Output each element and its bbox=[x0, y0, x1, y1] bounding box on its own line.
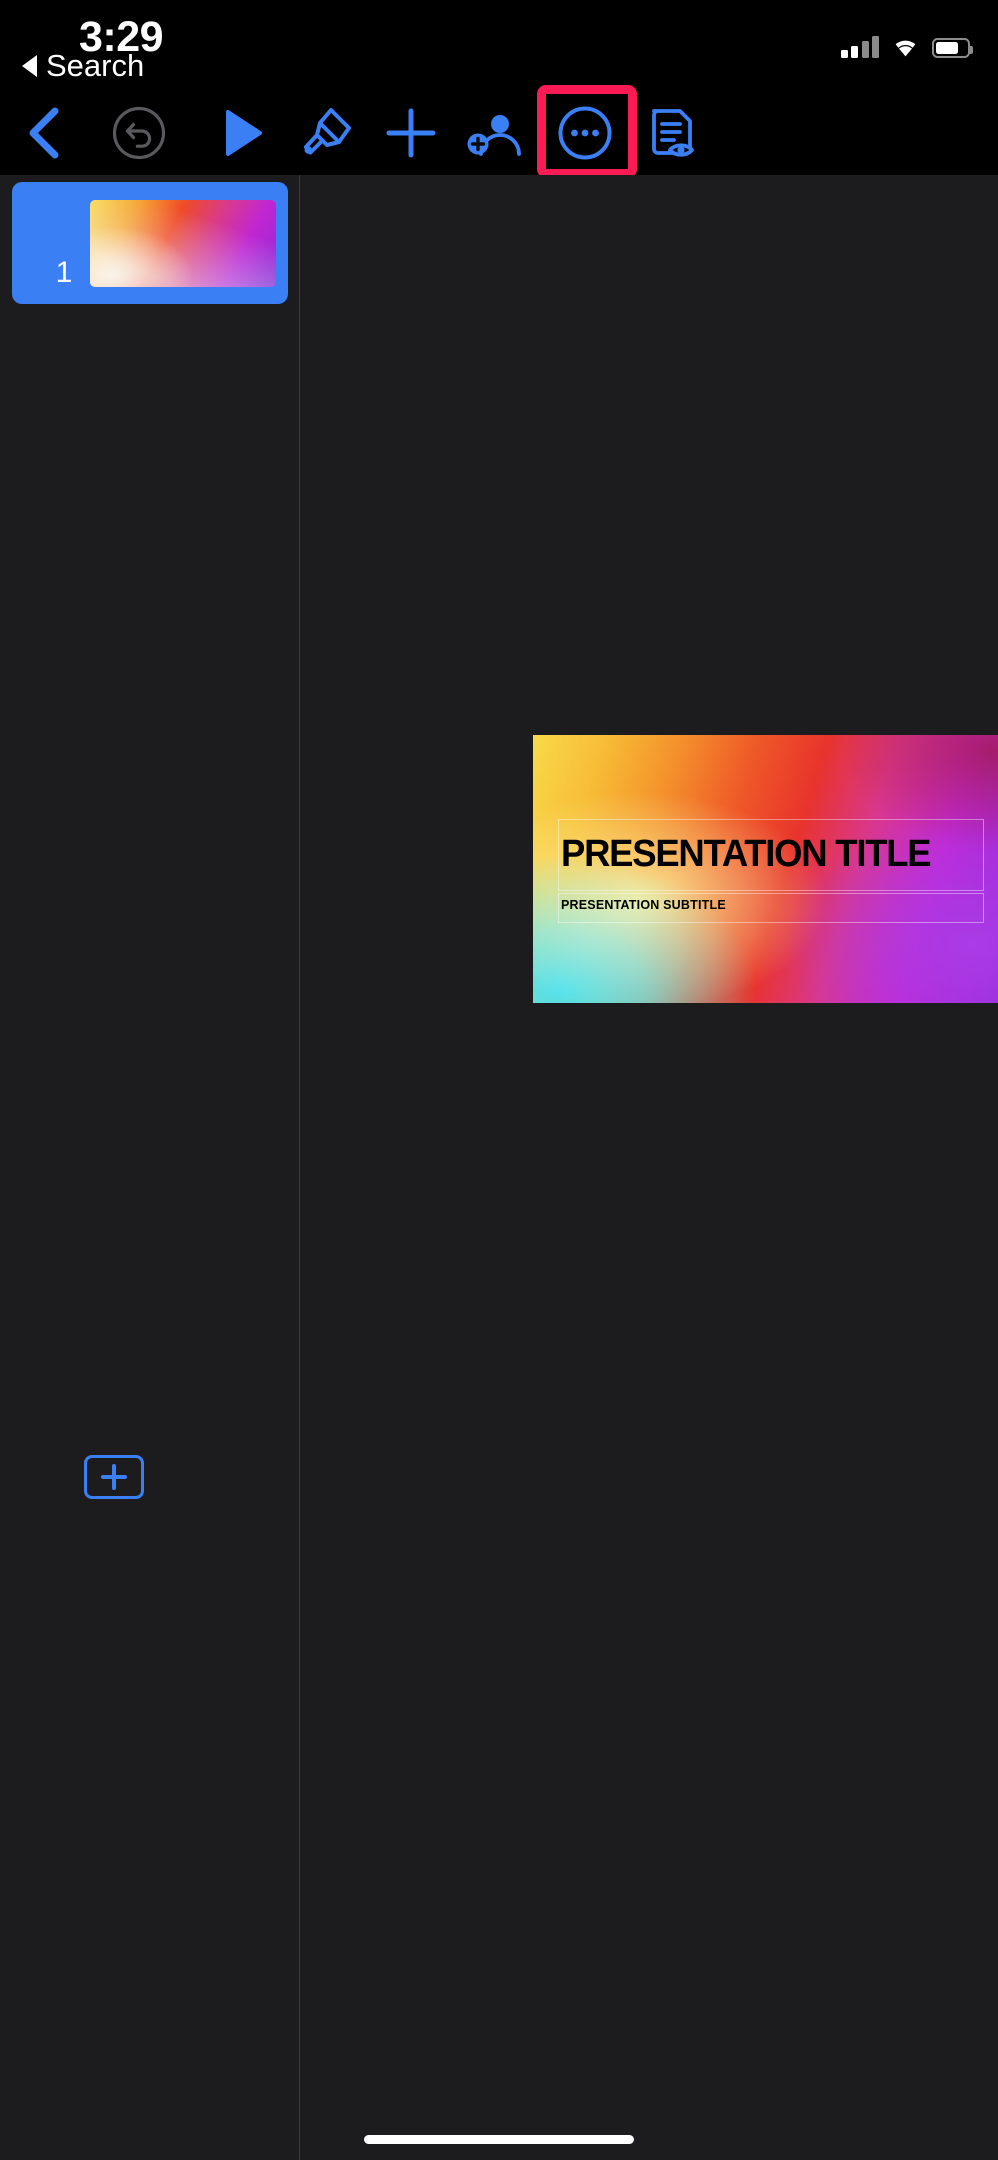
slide-thumbnail-1[interactable]: 1 bbox=[12, 182, 288, 304]
plus-icon bbox=[383, 105, 439, 161]
add-slide-button[interactable] bbox=[84, 1455, 144, 1499]
presenter-notes-button[interactable] bbox=[628, 90, 714, 175]
slide-editor-surface[interactable]: PRESENTATION TITLE PRESENTATION SUBTITLE bbox=[533, 735, 998, 1003]
back-to-search-label: Search bbox=[46, 48, 144, 84]
insert-button[interactable] bbox=[368, 90, 454, 175]
undo-button[interactable] bbox=[96, 90, 182, 175]
keynote-app-screen: 3:29 Search bbox=[0, 0, 998, 2160]
home-indicator bbox=[364, 2135, 634, 2144]
back-button[interactable] bbox=[2, 90, 88, 175]
format-button[interactable] bbox=[283, 90, 369, 175]
collaborate-button[interactable] bbox=[452, 90, 538, 175]
cellular-signal-icon bbox=[841, 36, 880, 58]
paintbrush-icon bbox=[297, 104, 355, 162]
status-bar-indicators bbox=[841, 36, 971, 58]
battery-icon bbox=[932, 38, 970, 58]
toolbar bbox=[0, 90, 998, 175]
slide-navigator-sidebar[interactable]: 1 bbox=[0, 175, 300, 2160]
play-triangle-icon bbox=[221, 108, 265, 158]
back-to-search-link[interactable]: Search bbox=[22, 48, 144, 84]
more-options-button[interactable] bbox=[542, 90, 628, 175]
document-eye-icon bbox=[642, 103, 700, 163]
editor-main: 1 PRESENTATION TITLE PRESENTATION SUBTIT bbox=[0, 175, 998, 2160]
slide-title-text[interactable]: PRESENTATION TITLE bbox=[561, 831, 974, 877]
status-bar: 3:29 bbox=[0, 0, 998, 90]
slide-canvas[interactable]: PRESENTATION TITLE PRESENTATION SUBTITLE bbox=[300, 175, 998, 2160]
ellipsis-circle-icon bbox=[556, 104, 614, 162]
undo-circle-icon bbox=[111, 105, 167, 161]
chevron-left-icon bbox=[25, 105, 65, 161]
play-button[interactable] bbox=[200, 90, 286, 175]
wifi-icon bbox=[891, 36, 920, 58]
slide-subtitle-text[interactable]: PRESENTATION SUBTITLE bbox=[561, 898, 726, 912]
back-triangle-icon bbox=[22, 55, 37, 77]
person-add-icon bbox=[464, 104, 526, 162]
slide-thumbnail-image bbox=[90, 200, 276, 287]
slide-number-label: 1 bbox=[56, 256, 73, 290]
